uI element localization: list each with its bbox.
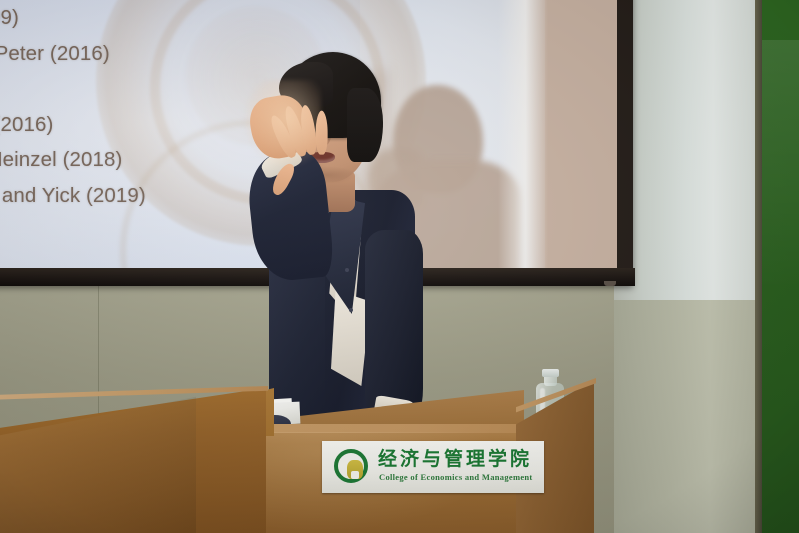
wall-column-lower: [614, 300, 774, 533]
college-emblem-icon: [334, 449, 368, 483]
slide-line: gatti (2009): [0, 0, 334, 36]
screen-roller-nub: [604, 281, 616, 286]
college-sign: 经济与管理学院 College of Economics and Managem…: [322, 441, 544, 493]
college-name-chinese: 经济与管理学院: [378, 448, 532, 470]
jacket-button: [349, 308, 353, 312]
college-name-english: College of Economics and Management: [379, 472, 533, 483]
hair-side: [347, 88, 383, 162]
hand-backlight-glow: [245, 80, 321, 166]
lecture-hall-photo: gatti (2009) ann and Peter (2016) (2017)…: [0, 0, 799, 533]
college-emblem-glyph-icon: [347, 460, 363, 479]
jacket-button: [345, 268, 349, 272]
water-bottle-cap: [542, 369, 559, 377]
projection-right-edge: [498, 0, 548, 272]
green-board-sheen: [762, 40, 799, 290]
